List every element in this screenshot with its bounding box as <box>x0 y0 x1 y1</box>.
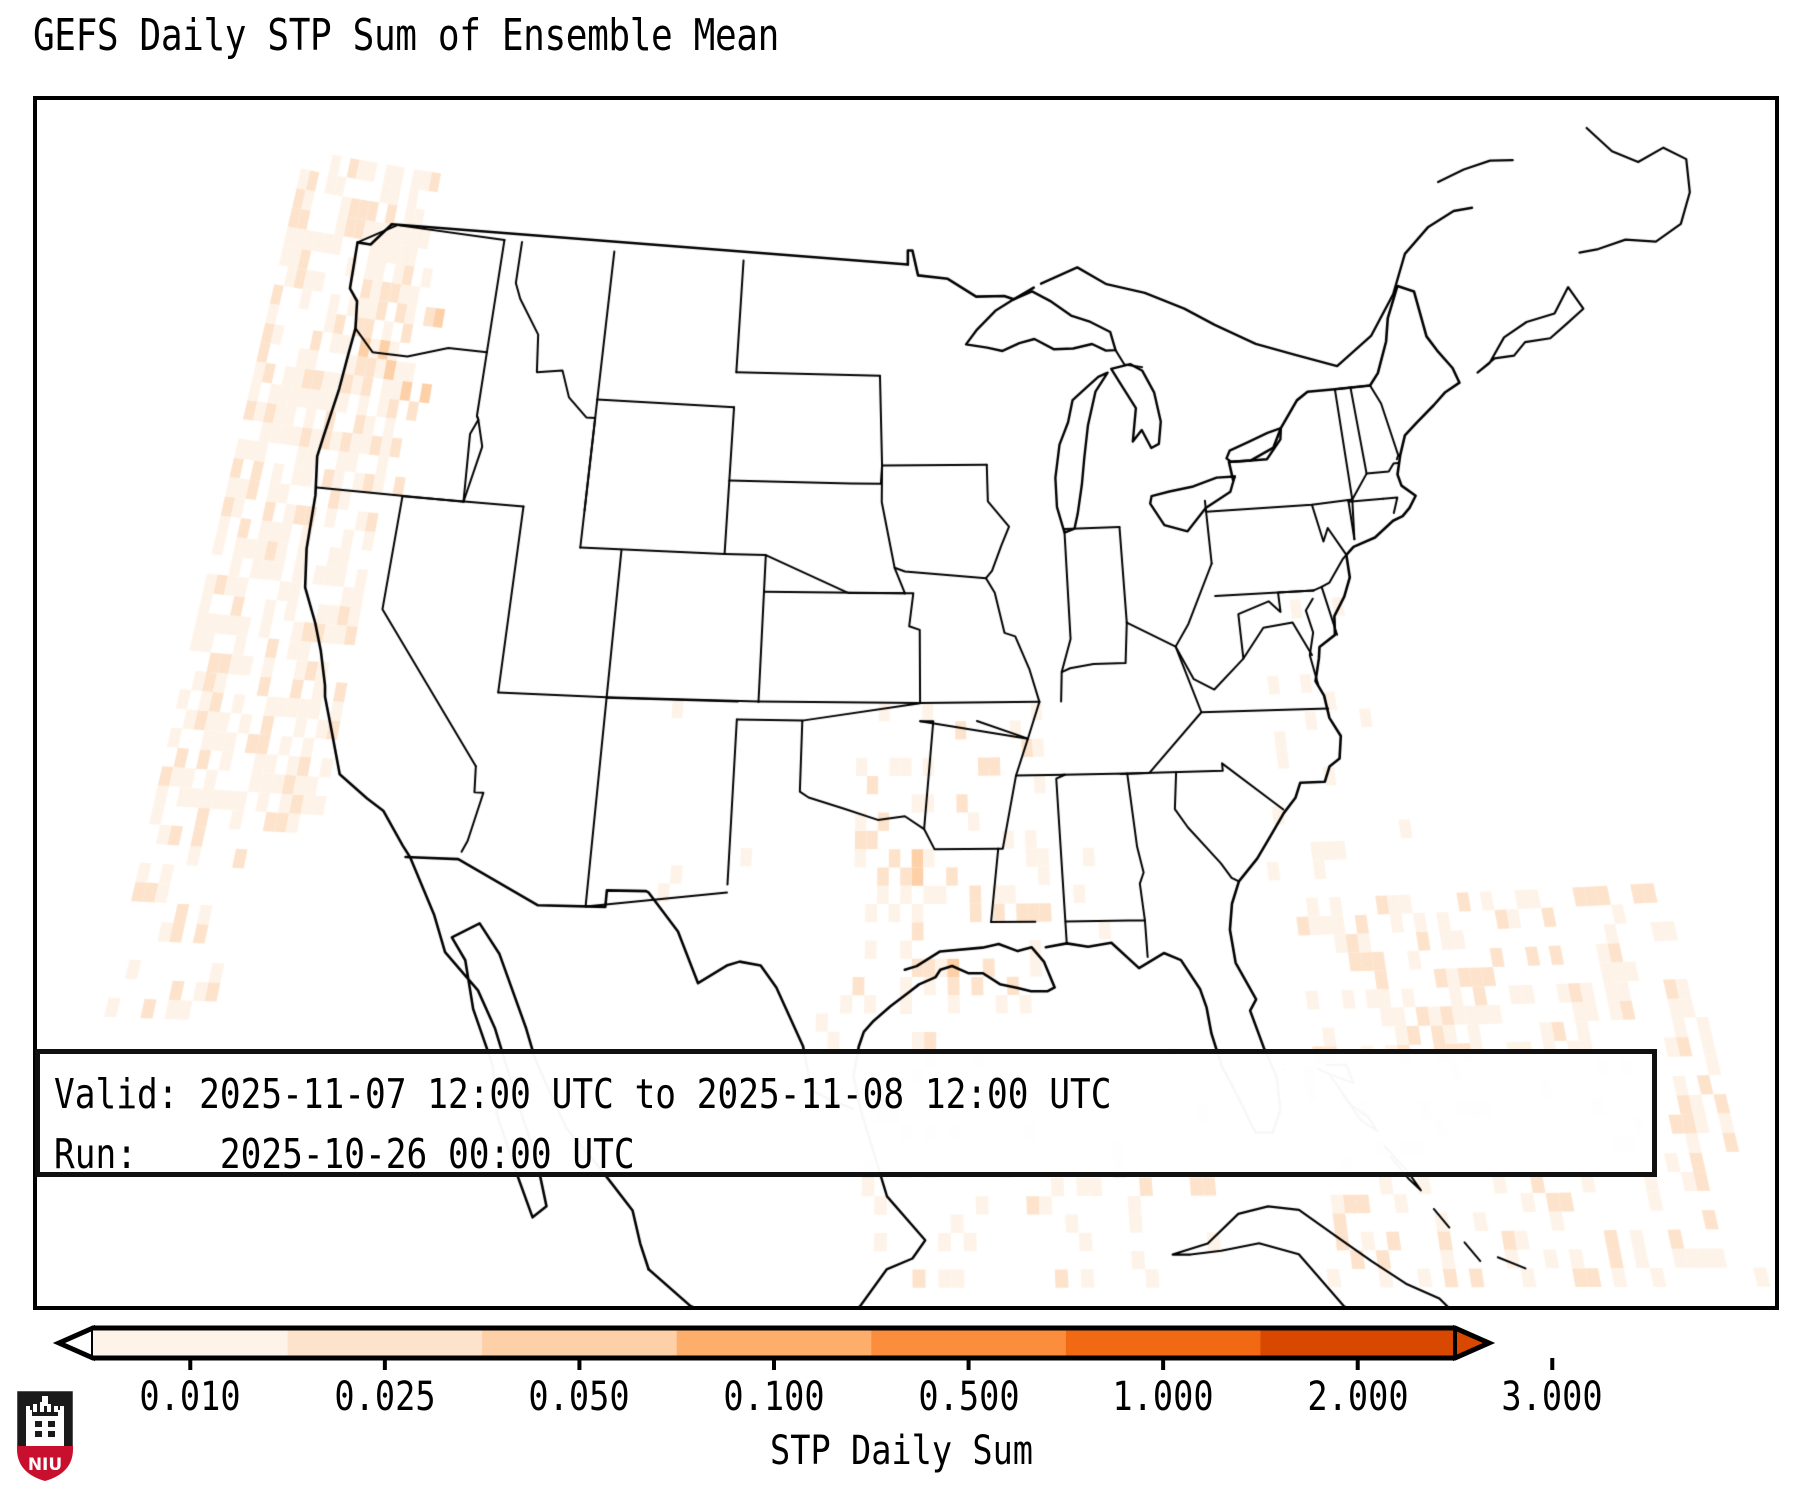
run-time-line: Run: 2025-10-26 00:00 UTC <box>54 1124 1396 1184</box>
valid-run-info-box: Valid: 2025-11-07 12:00 UTC to 2025-11-0… <box>35 1049 1657 1177</box>
colorbar-band <box>1260 1328 1455 1358</box>
colorbar <box>0 1310 1803 1370</box>
colorbar-tick-label: 3.000 <box>1502 1374 1603 1420</box>
colorbar-band <box>1066 1328 1261 1358</box>
colorbar-band <box>288 1328 483 1358</box>
colorbar-tick-label: 0.025 <box>334 1374 435 1420</box>
colorbar-tick-labels: 0.0100.0250.0500.1000.5001.0002.0003.000 <box>0 1374 1803 1420</box>
weather-map-figure: GEFS Daily STP Sum of Ensemble Mean Vali… <box>0 0 1803 1500</box>
colorbar-band <box>871 1328 1066 1358</box>
colorbar-tick-label: 0.010 <box>140 1374 241 1420</box>
valid-time-line: Valid: 2025-11-07 12:00 UTC to 2025-11-0… <box>54 1064 1396 1124</box>
niu-logo: NIU <box>14 1388 76 1484</box>
niu-logo-text: NIU <box>28 1455 62 1475</box>
colorbar-tick-label: 1.000 <box>1113 1374 1214 1420</box>
colorbar-tick-label: 0.100 <box>723 1374 824 1420</box>
colorbar-tick-label: 0.500 <box>918 1374 1019 1420</box>
page-title: GEFS Daily STP Sum of Ensemble Mean <box>33 14 779 58</box>
colorbar-swatches <box>0 1310 1803 1370</box>
colorbar-tick-label: 0.050 <box>529 1374 630 1420</box>
colorbar-band <box>93 1328 288 1358</box>
colorbar-axis-label: STP Daily Sum <box>0 1428 1803 1474</box>
colorbar-tick-label: 2.000 <box>1307 1374 1408 1420</box>
colorbar-band <box>677 1328 872 1358</box>
colorbar-band <box>482 1328 677 1358</box>
